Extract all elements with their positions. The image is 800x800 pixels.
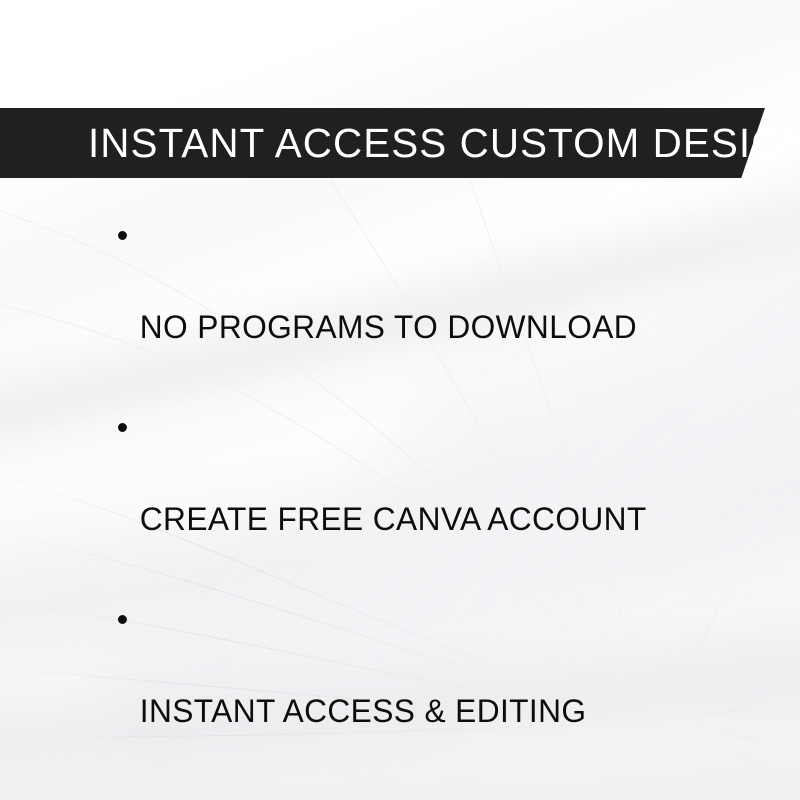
list-item-label: NO PROGRAMS TO DOWNLOAD [140, 304, 732, 350]
header-banner: INSTANT ACCESS CUSTOM DESIGNS [0, 108, 765, 178]
bullet-dot-icon [118, 615, 127, 624]
list-item-label: INSTANT ACCESS & EDITING [140, 688, 732, 734]
list-item: NO PROGRAMS TO DOWNLOAD [118, 212, 732, 396]
list-item: CREATE FREE CANVA ACCOUNT [118, 404, 732, 588]
list-item: EDIT ON ANY DEVICE [118, 788, 732, 800]
list-item: INSTANT ACCESS & EDITING [118, 596, 732, 780]
page-title: INSTANT ACCESS CUSTOM DESIGNS [88, 108, 800, 178]
poster-canvas: INSTANT ACCESS CUSTOM DESIGNS NO PROGRAM… [0, 0, 800, 800]
bullet-dot-icon [118, 423, 127, 432]
list-item-label: CREATE FREE CANVA ACCOUNT [140, 496, 732, 542]
feature-list: NO PROGRAMS TO DOWNLOAD CREATE FREE CANV… [118, 212, 738, 800]
bullet-dot-icon [118, 231, 127, 240]
